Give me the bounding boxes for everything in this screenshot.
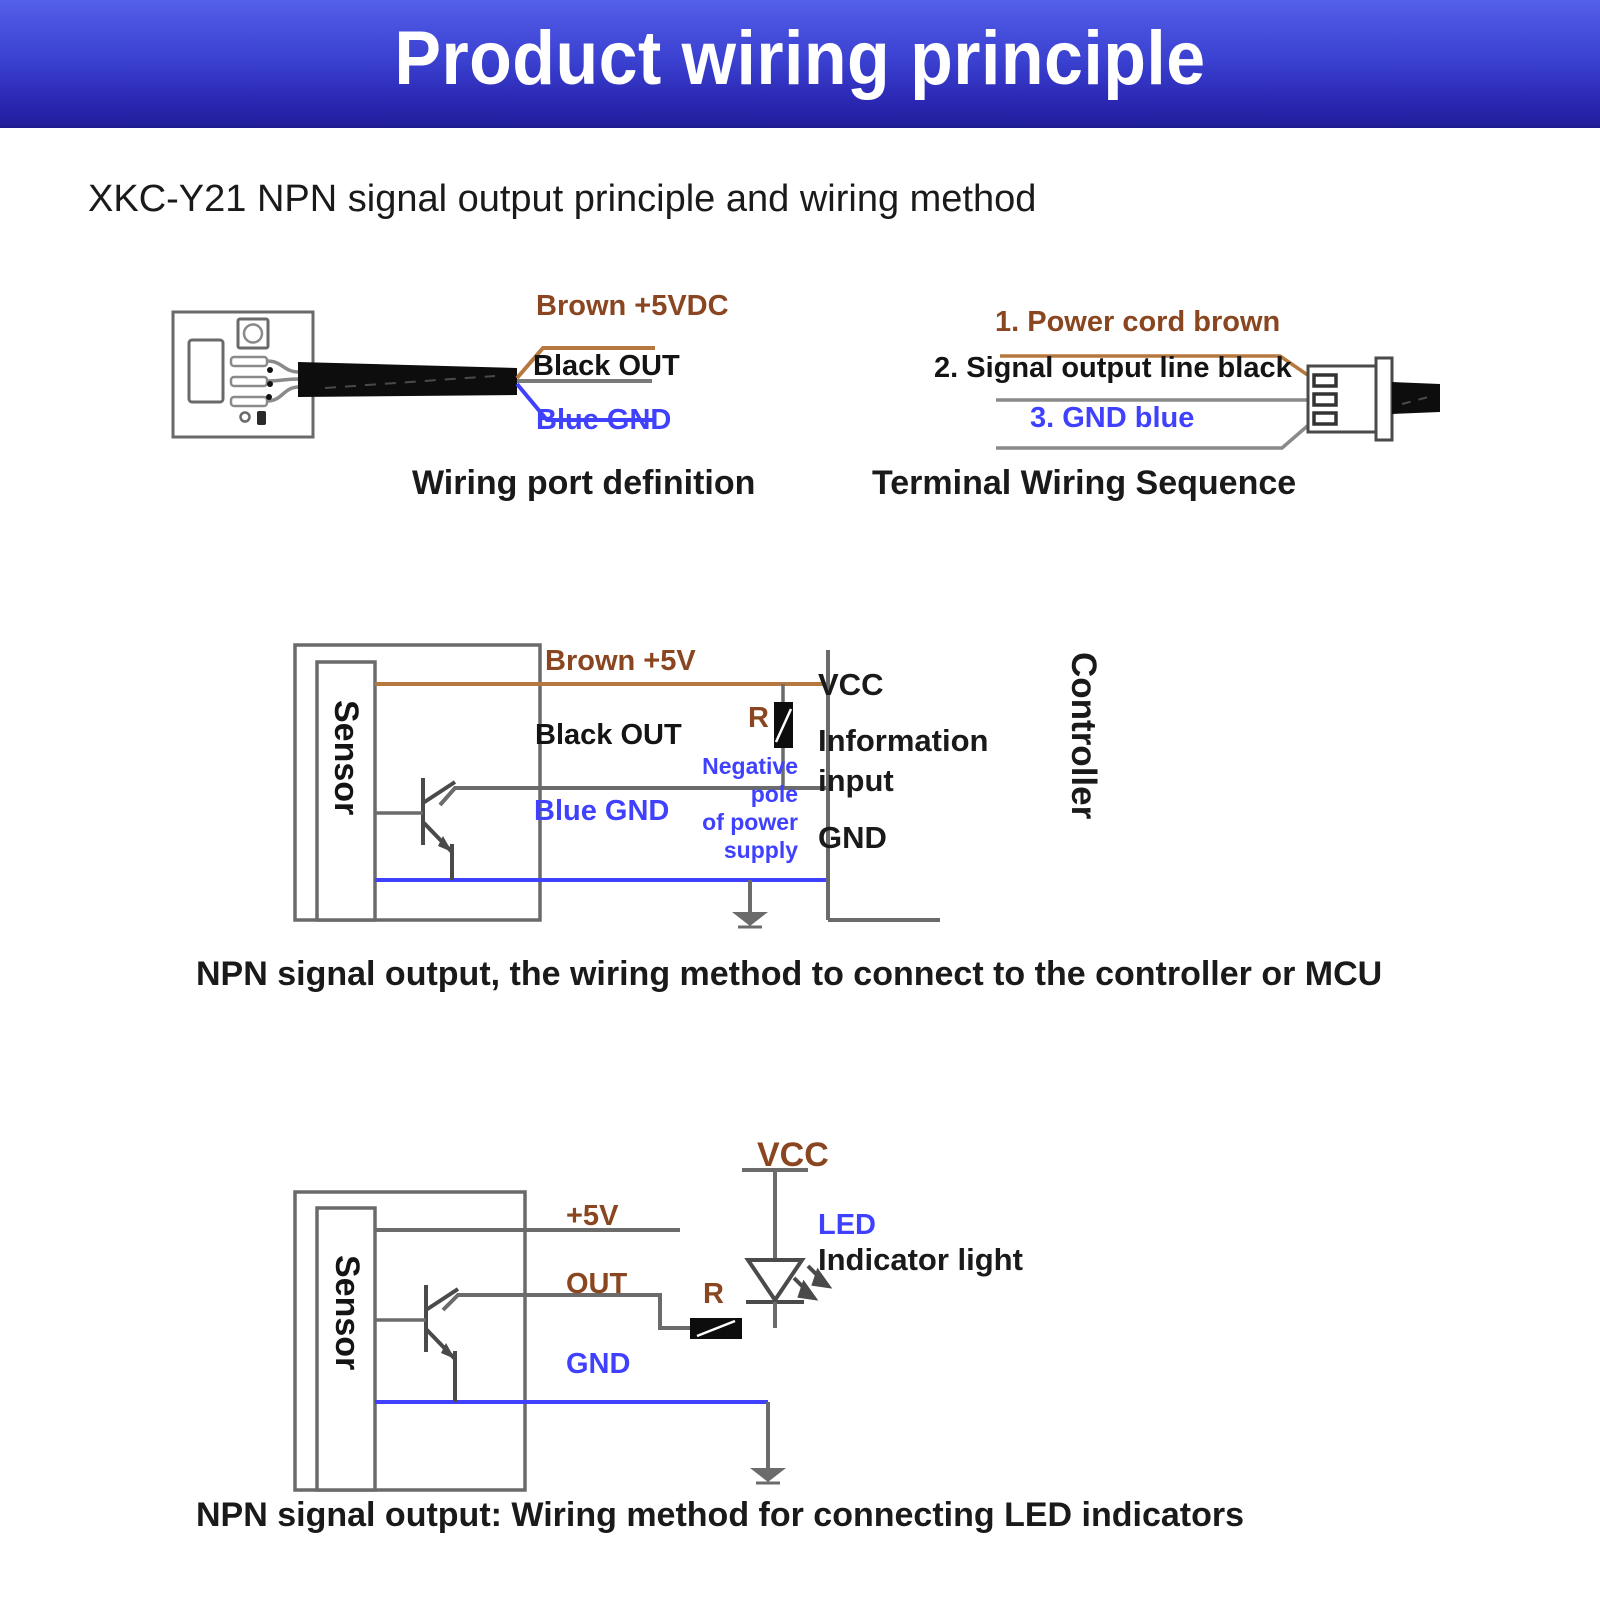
figure-3-terminal-vcc: VCC [818,667,883,703]
figure-4-label-gnd: GND [566,1348,630,1381]
figure-3-note-line2: of power [650,808,798,836]
figure-4-label-plus5v: +5V [566,1200,618,1233]
figure-1-label-black: Black OUT [533,350,680,383]
figure-4-label-out: OUT [566,1268,627,1301]
npn-transistor-symbol [375,778,455,880]
header-banner: Product wiring principle [0,0,1600,128]
figure-4-caption: NPN signal output: Wiring method for con… [196,1496,1244,1535]
figure-2-label-black: 2. Signal output line black [934,352,1292,385]
cable-jacket [1392,382,1440,414]
figure-3-caption: NPN signal output, the wiring method to … [196,955,1382,994]
figure-3-terminal-gnd: GND [818,820,887,856]
figure-3-note: Negative pole of power supply [650,752,798,864]
figure-4-sensor-label: Sensor [327,1255,366,1370]
figure-4-resistor-label: R [703,1278,724,1311]
figure-3-terminal-info-line2: input [818,763,894,799]
figure-3-resistor-label: R [748,702,769,735]
npn-transistor-symbol [375,1285,458,1402]
led-diode-symbol [746,1260,828,1328]
figure-4-vcc-label: VCC [757,1136,829,1175]
figure-3-label-brown: Brown +5V [545,645,696,678]
ground-symbol [732,880,768,927]
page-title: Product wiring principle [64,0,1536,118]
figure-3-note-line3: supply [650,836,798,864]
figure-1-caption: Wiring port definition [412,464,755,503]
figure-1-label-blue: Blue GND [536,404,671,437]
figure-1-wiring-port-diagram [165,300,785,470]
figure-3-controller-label: Controller [1063,652,1103,819]
sensor-pcb-icon [173,312,313,437]
figure-3-sensor-label: Sensor [326,700,365,815]
jst-connector-icon [1308,358,1392,440]
section-heading: XKC-Y21 NPN signal output principle and … [88,178,1036,221]
figure-2-label-blue: 3. GND blue [1030,402,1194,435]
figure-2-caption: Terminal Wiring Sequence [872,464,1296,503]
figure-2-label-brown: 1. Power cord brown [995,306,1280,339]
resistor-symbol [690,1318,742,1339]
vcc-rail [742,1170,808,1260]
figure-4-indicator-label: Indicator light [818,1242,1023,1278]
figure-3-terminal-info-line1: Information [818,723,989,759]
figure-4-led-label: LED [818,1209,876,1242]
figure-1-label-brown: Brown +5VDC [536,290,729,323]
figure-3-note-line1: Negative pole [650,752,798,808]
cable-jacket [298,362,517,397]
ground-symbol [750,1402,786,1483]
figure-3-label-black: Black OUT [535,719,682,752]
